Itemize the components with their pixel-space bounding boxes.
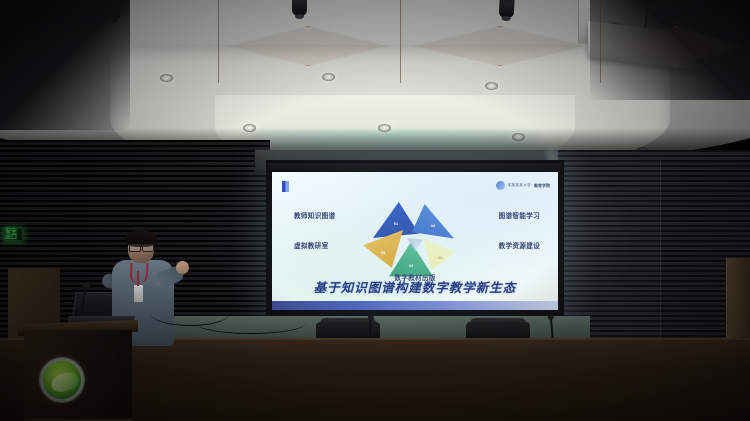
projection-screen-bezel [268,163,562,172]
slide-label-right-top: 图谱智能学习 [499,210,540,220]
track-light-icon [292,0,307,16]
segment-number: 01 [394,221,398,226]
presenter-right-hand [176,261,189,274]
glasses-icon [129,244,154,250]
segment-number: 05 [381,250,385,255]
slide-label-left-top: 教师知识图谱 [294,210,335,220]
university-logo-icon [496,181,505,190]
downlight-icon [322,73,335,81]
segment-number: 02 [431,223,435,228]
pinwheel-segment-03: 03 [423,238,457,270]
pinwheel-segment-02: 02 [412,204,454,240]
exit-sign: 安全出口 [4,228,23,241]
desk-seam [218,0,219,83]
slide-title: 基于知识图谱构建数字教学新生态 [314,277,517,296]
slide-label-right-bottom: 教学资源建设 [499,240,540,250]
downlight-icon [160,74,173,82]
presentation-slide: 某某某某大学 教育学院 01 02 03 04 05 教师知识图谱 虚拟教研室 … [272,172,558,310]
exit-sign-label: 安全出口 [5,229,22,241]
audio-cable [196,312,306,334]
segment-number: 03 [438,255,442,260]
university-emblem-icon [40,358,84,402]
presenter-badge [134,285,143,302]
desk-seam [400,0,401,83]
logo-institution: 某某某某大学 [508,184,531,188]
slide-corner-accent-icon [282,181,289,192]
downlight-icon [485,82,498,90]
ceiling-shadow-left [0,0,130,130]
slide-label-left-bottom: 虚拟教研室 [294,240,328,250]
logo-department: 教育学院 [534,183,550,189]
pinwheel-segment-01: 01 [373,202,419,238]
slide-logo: 某某某某大学 教育学院 [496,181,550,190]
lecture-hall-scene: 安全出口 某某某某大学 教育学院 01 02 03 04 [0,0,750,421]
desk-seam [600,0,601,83]
segment-number: 04 [409,263,413,268]
presenter-lanyard [129,263,148,283]
track-light-icon [499,0,515,18]
slide-footer-band [272,301,558,310]
